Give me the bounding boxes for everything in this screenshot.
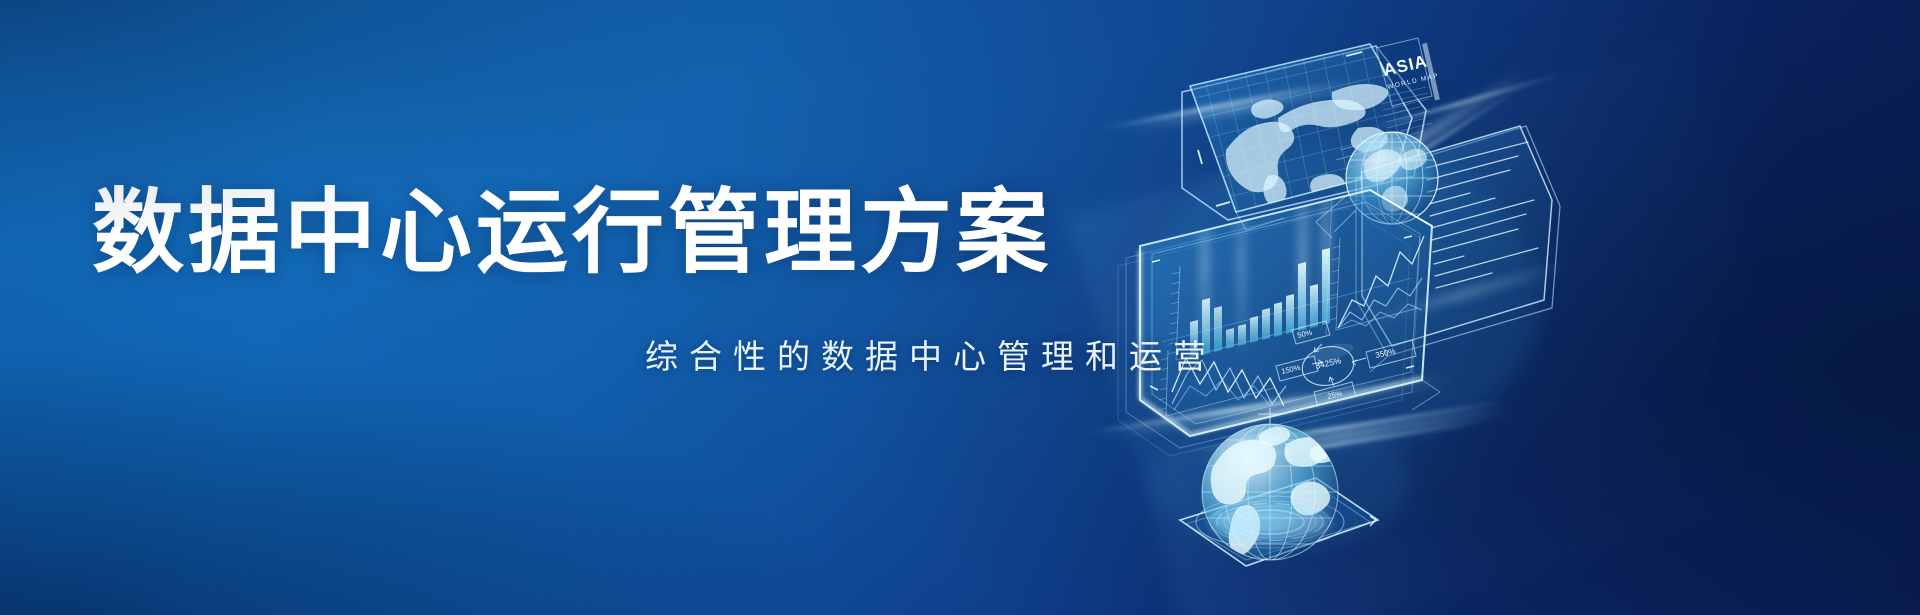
page-title: 数据中心运行管理方案 bbox=[92, 185, 1052, 282]
hero-text-block: 数据中心运行管理方案 综合性的数据中心管理和运营 bbox=[0, 0, 1110, 615]
page-subtitle: 综合性的数据中心管理和运营 bbox=[92, 330, 1217, 378]
hologram-illustration: ASIA WORLD MAP bbox=[1040, 0, 1920, 615]
hero-banner: ASIA WORLD MAP bbox=[0, 0, 1920, 615]
